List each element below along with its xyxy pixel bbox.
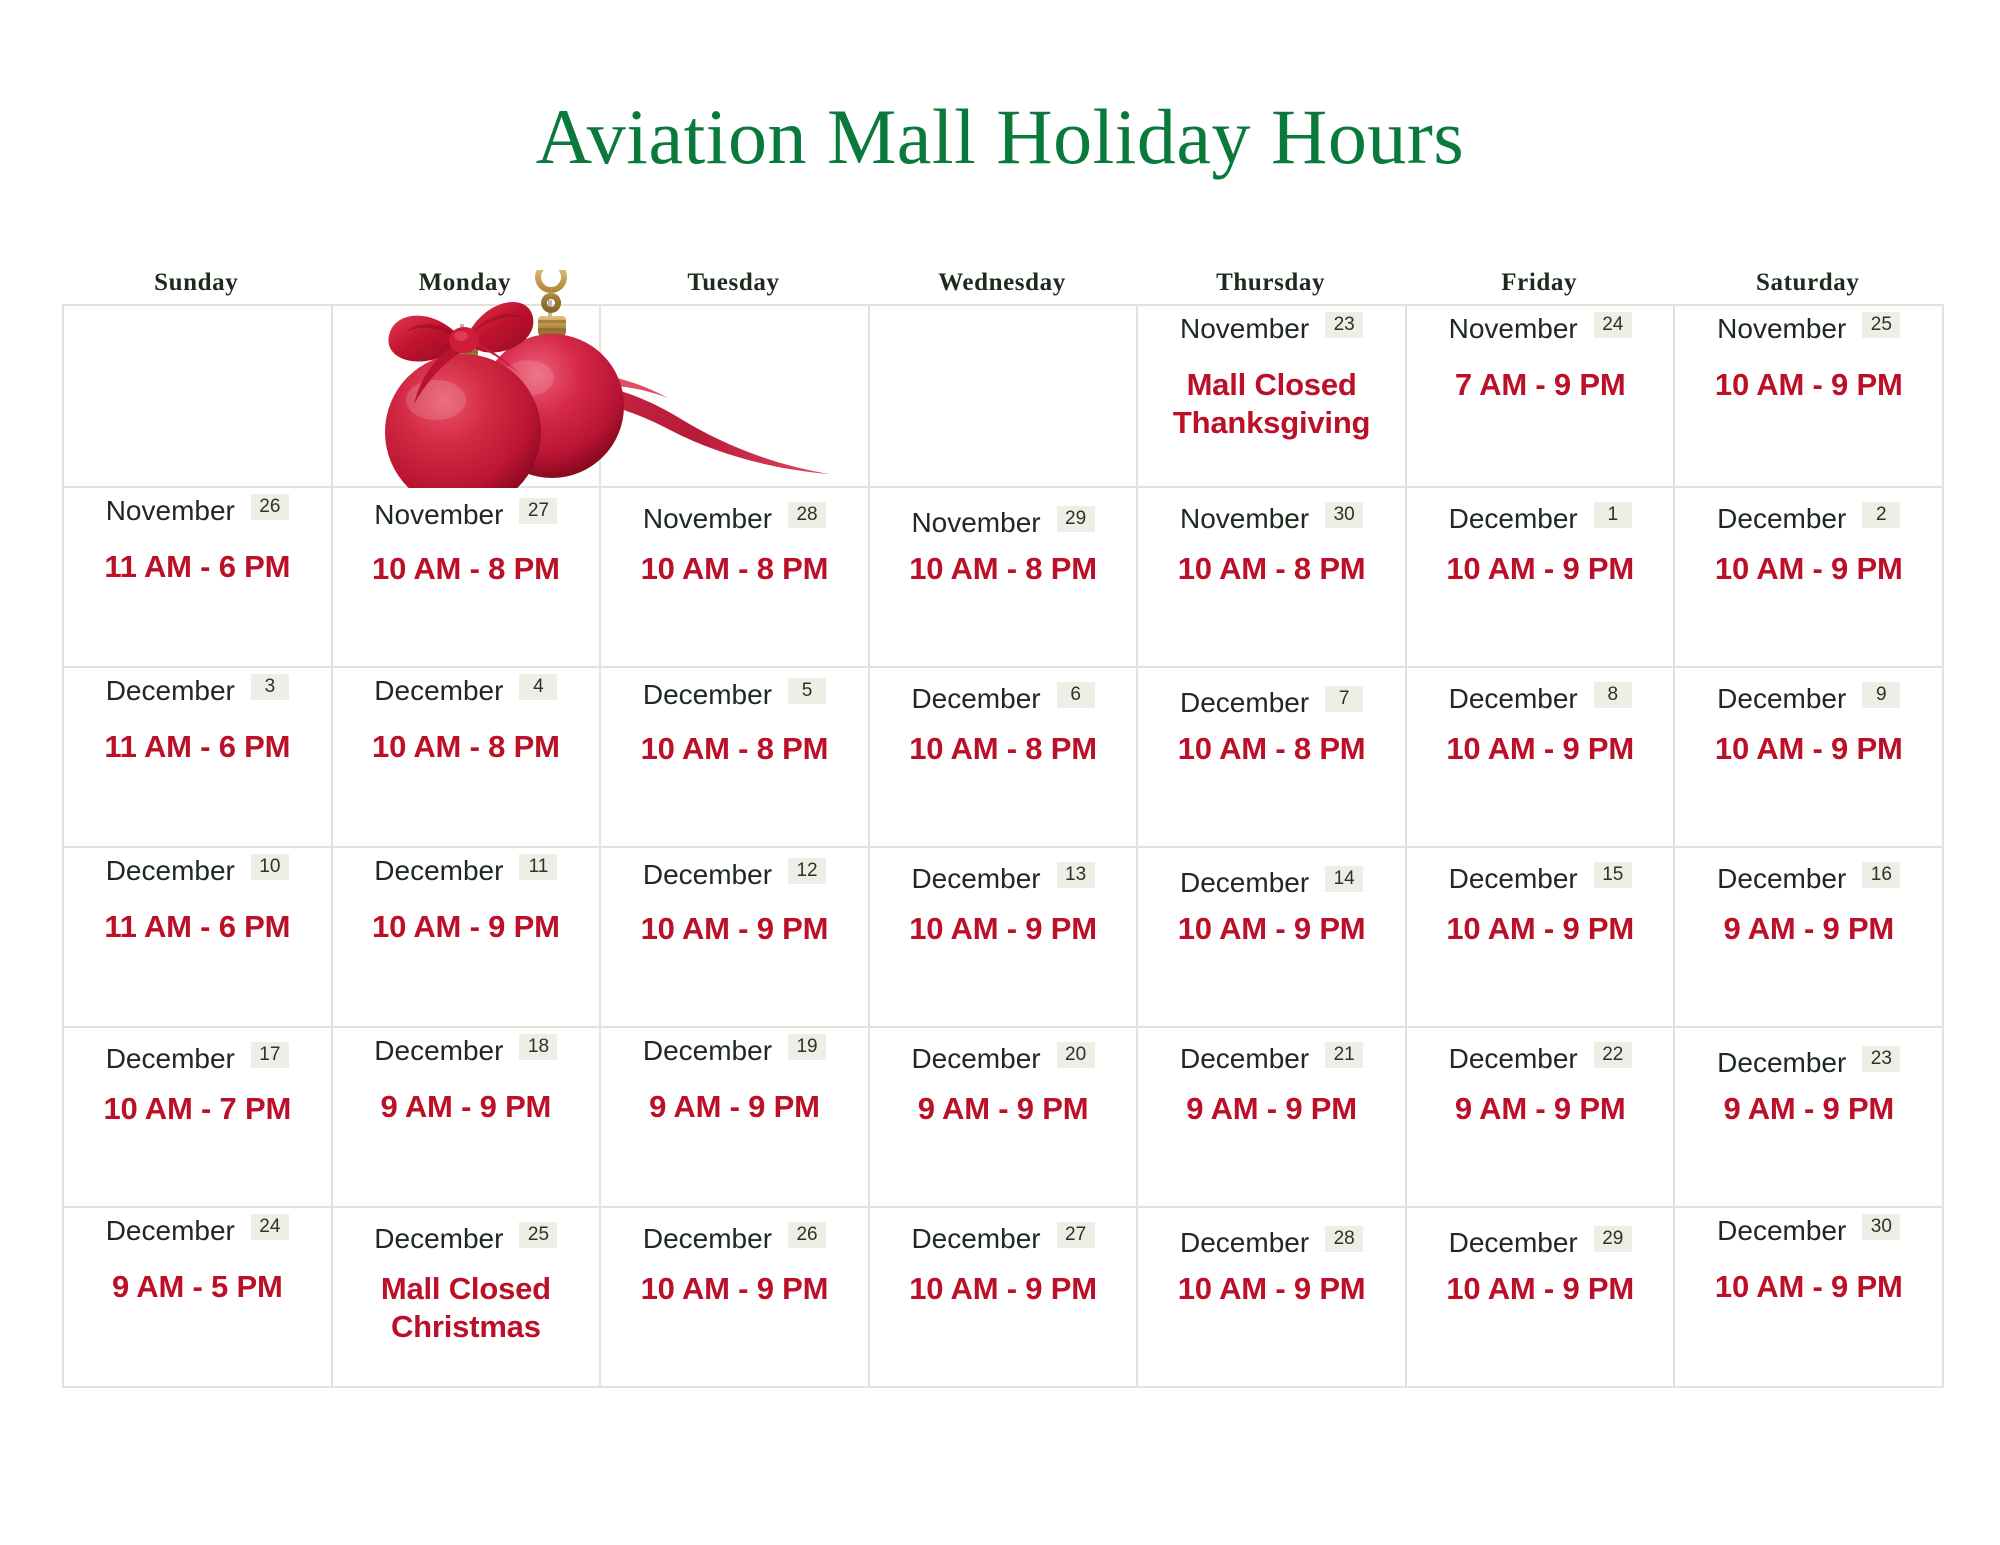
cell-hours-text: Mall Closed Christmas bbox=[333, 1270, 600, 1346]
cell-date-header: December 17 bbox=[64, 1028, 331, 1076]
calendar-day-cell[interactable]: December 13 10 AM - 9 PM bbox=[870, 848, 1139, 1028]
calendar-day-cell[interactable]: December 5 10 AM - 8 PM bbox=[601, 668, 870, 848]
cell-date-header: December 2 bbox=[1675, 488, 1942, 536]
calendar-day-cell[interactable]: November 29 10 AM - 8 PM bbox=[870, 488, 1139, 668]
cell-date-header: December 5 bbox=[601, 668, 868, 712]
cell-date-header: December 13 bbox=[870, 848, 1137, 896]
cell-day-number: 24 bbox=[1594, 312, 1632, 338]
cell-date-header: December 1 bbox=[1407, 488, 1674, 536]
cell-day-number: 23 bbox=[1325, 312, 1363, 338]
cell-hours-text: 10 AM - 9 PM bbox=[1138, 910, 1405, 948]
cell-date-header: November 30 bbox=[1138, 488, 1405, 536]
cell-date-header: December 30 bbox=[1675, 1208, 1942, 1248]
calendar-day-cell[interactable]: December 10 11 AM - 6 PM bbox=[64, 848, 333, 1028]
cell-date-header: December 8 bbox=[1407, 668, 1674, 716]
cell-month-label: December bbox=[911, 1042, 1040, 1076]
cell-day-number: 8 bbox=[1594, 682, 1632, 708]
calendar-day-cell[interactable]: December 25 Mall Closed Christmas bbox=[333, 1208, 602, 1388]
cell-hours-text: 10 AM - 9 PM bbox=[870, 1270, 1137, 1308]
cell-month-label: December bbox=[643, 858, 772, 892]
cell-day-number: 15 bbox=[1594, 862, 1632, 888]
cell-day-number: 27 bbox=[1057, 1222, 1095, 1248]
calendar-day-cell[interactable]: December 7 10 AM - 8 PM bbox=[1138, 668, 1407, 848]
calendar-day-cell[interactable]: December 26 10 AM - 9 PM bbox=[601, 1208, 870, 1388]
cell-day-number: 20 bbox=[1057, 1042, 1095, 1068]
cell-date-header: December 29 bbox=[1407, 1208, 1674, 1260]
weekday-header-thursday: Thursday bbox=[1136, 268, 1405, 304]
holiday-hours-calendar: Sunday Monday Tuesday Wednesday Thursday… bbox=[62, 268, 1942, 1388]
cell-month-label: December bbox=[643, 1222, 772, 1256]
cell-month-label: December bbox=[643, 678, 772, 712]
calendar-day-cell[interactable]: December 28 10 AM - 9 PM bbox=[1138, 1208, 1407, 1388]
calendar-day-cell[interactable]: December 9 10 AM - 9 PM bbox=[1675, 668, 1944, 848]
cell-month-label: December bbox=[106, 1214, 235, 1248]
cell-day-number: 26 bbox=[251, 494, 289, 520]
cell-month-label: December bbox=[1717, 1046, 1846, 1080]
cell-hours-text: 10 AM - 9 PM bbox=[1407, 1270, 1674, 1308]
cell-date-header: November 28 bbox=[601, 488, 868, 536]
calendar-week-row: December 3 11 AM - 6 PM December 4 10 AM… bbox=[64, 668, 1944, 848]
cell-hours-text: 9 AM - 9 PM bbox=[1675, 1090, 1942, 1128]
calendar-day-cell[interactable]: December 18 9 AM - 9 PM bbox=[333, 1028, 602, 1208]
cell-date-header: December 26 bbox=[601, 1208, 868, 1256]
cell-day-number: 11 bbox=[519, 854, 557, 880]
cell-hours-text: 9 AM - 9 PM bbox=[601, 1088, 868, 1126]
cell-day-number: 9 bbox=[1862, 682, 1900, 708]
cell-month-label: November bbox=[106, 494, 235, 528]
cell-date-header: November 23 bbox=[1138, 306, 1405, 346]
calendar-week-row: November 23 Mall Closed Thanksgiving Nov… bbox=[64, 306, 1944, 488]
cell-hours-text: 10 AM - 7 PM bbox=[64, 1090, 331, 1128]
weekday-header-sunday: Sunday bbox=[62, 268, 331, 304]
cell-month-label: November bbox=[643, 502, 772, 536]
cell-month-label: December bbox=[106, 1042, 235, 1076]
calendar-day-cell[interactable]: December 17 10 AM - 7 PM bbox=[64, 1028, 333, 1208]
weekday-header-wednesday: Wednesday bbox=[868, 268, 1137, 304]
cell-date-header: December 3 bbox=[64, 668, 331, 708]
calendar-day-cell[interactable]: December 30 10 AM - 9 PM bbox=[1675, 1208, 1944, 1388]
cell-day-number: 24 bbox=[251, 1214, 289, 1240]
calendar-day-cell[interactable]: December 22 9 AM - 9 PM bbox=[1407, 1028, 1676, 1208]
cell-hours-text: 10 AM - 9 PM bbox=[1675, 730, 1942, 768]
calendar-day-cell[interactable]: December 19 9 AM - 9 PM bbox=[601, 1028, 870, 1208]
cell-day-number: 2 bbox=[1862, 502, 1900, 528]
calendar-day-cell[interactable]: November 27 10 AM - 8 PM bbox=[333, 488, 602, 668]
cell-month-label: December bbox=[374, 674, 503, 708]
cell-hours-text: 11 AM - 6 PM bbox=[64, 548, 331, 586]
cell-day-number: 25 bbox=[519, 1222, 557, 1248]
cell-hours-text: 10 AM - 8 PM bbox=[601, 550, 868, 588]
cell-date-header: December 27 bbox=[870, 1208, 1137, 1256]
cell-date-header: December 4 bbox=[333, 668, 600, 708]
calendar-week-row: December 10 11 AM - 6 PM December 11 10 … bbox=[64, 848, 1944, 1028]
cell-day-number: 29 bbox=[1594, 1226, 1632, 1252]
cell-day-number: 1 bbox=[1594, 502, 1632, 528]
calendar-day-cell[interactable]: December 12 10 AM - 9 PM bbox=[601, 848, 870, 1028]
calendar-day-cell[interactable]: November 23 Mall Closed Thanksgiving bbox=[1138, 306, 1407, 488]
cell-date-header: December 7 bbox=[1138, 668, 1405, 720]
cell-date-header: December 9 bbox=[1675, 668, 1942, 716]
cell-day-number: 18 bbox=[519, 1034, 557, 1060]
cell-date-header: December 20 bbox=[870, 1028, 1137, 1076]
calendar-week-row: November 26 11 AM - 6 PM November 27 10 … bbox=[64, 488, 1944, 668]
weekday-header-saturday: Saturday bbox=[1673, 268, 1942, 304]
cell-month-label: December bbox=[911, 1222, 1040, 1256]
cell-hours-text: 10 AM - 9 PM bbox=[601, 910, 868, 948]
cell-hours-text: 9 AM - 9 PM bbox=[1675, 910, 1942, 948]
cell-month-label: December bbox=[643, 1034, 772, 1068]
calendar-day-cell[interactable]: December 2 10 AM - 9 PM bbox=[1675, 488, 1944, 668]
calendar-day-cell[interactable]: December 4 10 AM - 8 PM bbox=[333, 668, 602, 848]
page-title: Aviation Mall Holiday Hours bbox=[0, 98, 2000, 176]
cell-month-label: December bbox=[1449, 862, 1578, 896]
cell-date-header: December 28 bbox=[1138, 1208, 1405, 1260]
cell-month-label: December bbox=[1449, 682, 1578, 716]
calendar-day-cell[interactable]: December 14 10 AM - 9 PM bbox=[1138, 848, 1407, 1028]
calendar-day-cell[interactable]: December 1 10 AM - 9 PM bbox=[1407, 488, 1676, 668]
weekday-header-friday: Friday bbox=[1405, 268, 1674, 304]
cell-day-number: 19 bbox=[788, 1034, 826, 1060]
cell-day-number: 17 bbox=[251, 1042, 289, 1068]
cell-date-header: December 11 bbox=[333, 848, 600, 888]
cell-hours-text: 10 AM - 8 PM bbox=[1138, 550, 1405, 588]
cell-date-header: December 6 bbox=[870, 668, 1137, 716]
cell-month-label: December bbox=[1180, 1226, 1309, 1260]
calendar-day-cell[interactable]: November 28 10 AM - 8 PM bbox=[601, 488, 870, 668]
cell-day-number: 30 bbox=[1325, 502, 1363, 528]
cell-day-number: 7 bbox=[1325, 686, 1363, 712]
cell-day-number: 29 bbox=[1057, 506, 1095, 532]
cell-month-label: December bbox=[1717, 1214, 1846, 1248]
cell-day-number: 22 bbox=[1594, 1042, 1632, 1068]
weekday-header-row: Sunday Monday Tuesday Wednesday Thursday… bbox=[62, 268, 1942, 304]
cell-month-label: December bbox=[1449, 1042, 1578, 1076]
calendar-day-cell[interactable]: December 29 10 AM - 9 PM bbox=[1407, 1208, 1676, 1388]
calendar-day-cell[interactable]: December 6 10 AM - 8 PM bbox=[870, 668, 1139, 848]
cell-day-number: 5 bbox=[788, 678, 826, 704]
cell-month-label: December bbox=[1717, 682, 1846, 716]
cell-month-label: December bbox=[1180, 1042, 1309, 1076]
cell-day-number: 28 bbox=[1325, 1226, 1363, 1252]
calendar-day-cell-empty bbox=[601, 306, 870, 488]
calendar-week-row: December 24 9 AM - 5 PM December 25 Mall… bbox=[64, 1208, 1944, 1388]
cell-hours-text: 10 AM - 9 PM bbox=[1675, 550, 1942, 588]
cell-month-label: November bbox=[1449, 312, 1578, 346]
cell-day-number: 6 bbox=[1057, 682, 1095, 708]
cell-day-number: 4 bbox=[519, 674, 557, 700]
cell-hours-text: 10 AM - 9 PM bbox=[1675, 1268, 1942, 1306]
cell-hours-text: 10 AM - 9 PM bbox=[1407, 730, 1674, 768]
cell-hours-text: 10 AM - 8 PM bbox=[870, 550, 1137, 588]
calendar-day-cell-empty bbox=[64, 306, 333, 488]
calendar-day-cell[interactable]: November 24 7 AM - 9 PM bbox=[1407, 306, 1676, 488]
cell-date-header: November 25 bbox=[1675, 306, 1942, 346]
cell-hours-text: 10 AM - 9 PM bbox=[1675, 366, 1942, 404]
cell-date-header: December 21 bbox=[1138, 1028, 1405, 1076]
cell-month-label: November bbox=[374, 498, 503, 532]
cell-hours-text: 9 AM - 9 PM bbox=[1138, 1090, 1405, 1128]
cell-month-label: December bbox=[1180, 686, 1309, 720]
cell-day-number: 3 bbox=[251, 674, 289, 700]
cell-day-number: 12 bbox=[788, 858, 826, 884]
cell-date-header: November 26 bbox=[64, 488, 331, 528]
cell-day-number: 28 bbox=[788, 502, 826, 528]
cell-day-number: 26 bbox=[788, 1222, 826, 1248]
cell-month-label: December bbox=[106, 674, 235, 708]
calendar-day-cell[interactable]: December 15 10 AM - 9 PM bbox=[1407, 848, 1676, 1028]
calendar-day-cell[interactable]: December 24 9 AM - 5 PM bbox=[64, 1208, 333, 1388]
cell-day-number: 25 bbox=[1862, 312, 1900, 338]
cell-day-number: 21 bbox=[1325, 1042, 1363, 1068]
cell-day-number: 27 bbox=[519, 498, 557, 524]
cell-hours-text: 9 AM - 9 PM bbox=[870, 1090, 1137, 1128]
cell-day-number: 13 bbox=[1057, 862, 1095, 888]
cell-date-header: November 29 bbox=[870, 488, 1137, 540]
weekday-header-monday: Monday bbox=[331, 268, 600, 304]
cell-hours-text: 10 AM - 9 PM bbox=[333, 908, 600, 946]
cell-date-header: December 23 bbox=[1675, 1028, 1942, 1080]
calendar-grid: November 23 Mall Closed Thanksgiving Nov… bbox=[62, 304, 1944, 1388]
cell-hours-text: 9 AM - 9 PM bbox=[333, 1088, 600, 1126]
weekday-header-tuesday: Tuesday bbox=[599, 268, 868, 304]
cell-date-header: December 10 bbox=[64, 848, 331, 888]
cell-date-header: December 12 bbox=[601, 848, 868, 892]
calendar-day-cell[interactable]: December 20 9 AM - 9 PM bbox=[870, 1028, 1139, 1208]
cell-date-header: December 19 bbox=[601, 1028, 868, 1068]
cell-hours-text: 10 AM - 8 PM bbox=[333, 728, 600, 766]
cell-hours-text: 10 AM - 9 PM bbox=[601, 1270, 868, 1308]
cell-month-label: November bbox=[911, 506, 1040, 540]
cell-hours-text: 10 AM - 8 PM bbox=[601, 730, 868, 768]
calendar-day-cell[interactable]: November 26 11 AM - 6 PM bbox=[64, 488, 333, 668]
cell-hours-text: 9 AM - 9 PM bbox=[1407, 1090, 1674, 1128]
cell-date-header: December 24 bbox=[64, 1208, 331, 1248]
cell-day-number: 10 bbox=[251, 854, 289, 880]
calendar-day-cell[interactable]: December 23 9 AM - 9 PM bbox=[1675, 1028, 1944, 1208]
cell-date-header: December 15 bbox=[1407, 848, 1674, 896]
cell-month-label: December bbox=[106, 854, 235, 888]
cell-date-header: December 25 bbox=[333, 1208, 600, 1256]
cell-month-label: November bbox=[1180, 312, 1309, 346]
calendar-day-cell[interactable]: December 3 11 AM - 6 PM bbox=[64, 668, 333, 848]
cell-month-label: December bbox=[1449, 502, 1578, 536]
calendar-day-cell-empty bbox=[333, 306, 602, 488]
cell-day-number: 23 bbox=[1862, 1046, 1900, 1072]
cell-date-header: December 16 bbox=[1675, 848, 1942, 896]
cell-hours-text: 11 AM - 6 PM bbox=[64, 908, 331, 946]
cell-date-header: December 14 bbox=[1138, 848, 1405, 900]
calendar-day-cell[interactable]: November 30 10 AM - 8 PM bbox=[1138, 488, 1407, 668]
cell-month-label: December bbox=[374, 1034, 503, 1068]
cell-date-header: December 18 bbox=[333, 1028, 600, 1068]
cell-day-number: 16 bbox=[1862, 862, 1900, 888]
calendar-day-cell[interactable]: December 21 9 AM - 9 PM bbox=[1138, 1028, 1407, 1208]
cell-hours-text: 10 AM - 8 PM bbox=[1138, 730, 1405, 768]
cell-hours-text: 11 AM - 6 PM bbox=[64, 728, 331, 766]
calendar-day-cell[interactable]: November 25 10 AM - 9 PM bbox=[1675, 306, 1944, 488]
cell-date-header: November 24 bbox=[1407, 306, 1674, 346]
cell-hours-text: 10 AM - 9 PM bbox=[870, 910, 1137, 948]
cell-hours-text: 10 AM - 9 PM bbox=[1407, 910, 1674, 948]
cell-day-number: 30 bbox=[1862, 1214, 1900, 1240]
cell-hours-text: 10 AM - 9 PM bbox=[1138, 1270, 1405, 1308]
cell-hours-text: 10 AM - 9 PM bbox=[1407, 550, 1674, 588]
cell-day-number: 14 bbox=[1325, 866, 1363, 892]
cell-hours-text: Mall Closed Thanksgiving bbox=[1138, 366, 1405, 442]
cell-month-label: December bbox=[1717, 502, 1846, 536]
cell-month-label: December bbox=[374, 854, 503, 888]
calendar-day-cell-empty bbox=[870, 306, 1139, 488]
cell-month-label: December bbox=[1449, 1226, 1578, 1260]
cell-month-label: December bbox=[1180, 866, 1309, 900]
cell-month-label: December bbox=[911, 862, 1040, 896]
cell-hours-text: 10 AM - 8 PM bbox=[333, 550, 600, 588]
cell-month-label: December bbox=[911, 682, 1040, 716]
cell-date-header: November 27 bbox=[333, 488, 600, 532]
cell-date-header: December 22 bbox=[1407, 1028, 1674, 1076]
calendar-day-cell[interactable]: December 16 9 AM - 9 PM bbox=[1675, 848, 1944, 1028]
cell-hours-text: 9 AM - 5 PM bbox=[64, 1268, 331, 1306]
calendar-day-cell[interactable]: December 27 10 AM - 9 PM bbox=[870, 1208, 1139, 1388]
calendar-day-cell[interactable]: December 11 10 AM - 9 PM bbox=[333, 848, 602, 1028]
calendar-week-row: December 17 10 AM - 7 PM December 18 9 A… bbox=[64, 1028, 1944, 1208]
cell-hours-text: 7 AM - 9 PM bbox=[1407, 366, 1674, 404]
cell-month-label: December bbox=[374, 1222, 503, 1256]
cell-month-label: November bbox=[1180, 502, 1309, 536]
calendar-day-cell[interactable]: December 8 10 AM - 9 PM bbox=[1407, 668, 1676, 848]
cell-month-label: December bbox=[1717, 862, 1846, 896]
cell-month-label: November bbox=[1717, 312, 1846, 346]
cell-hours-text: 10 AM - 8 PM bbox=[870, 730, 1137, 768]
